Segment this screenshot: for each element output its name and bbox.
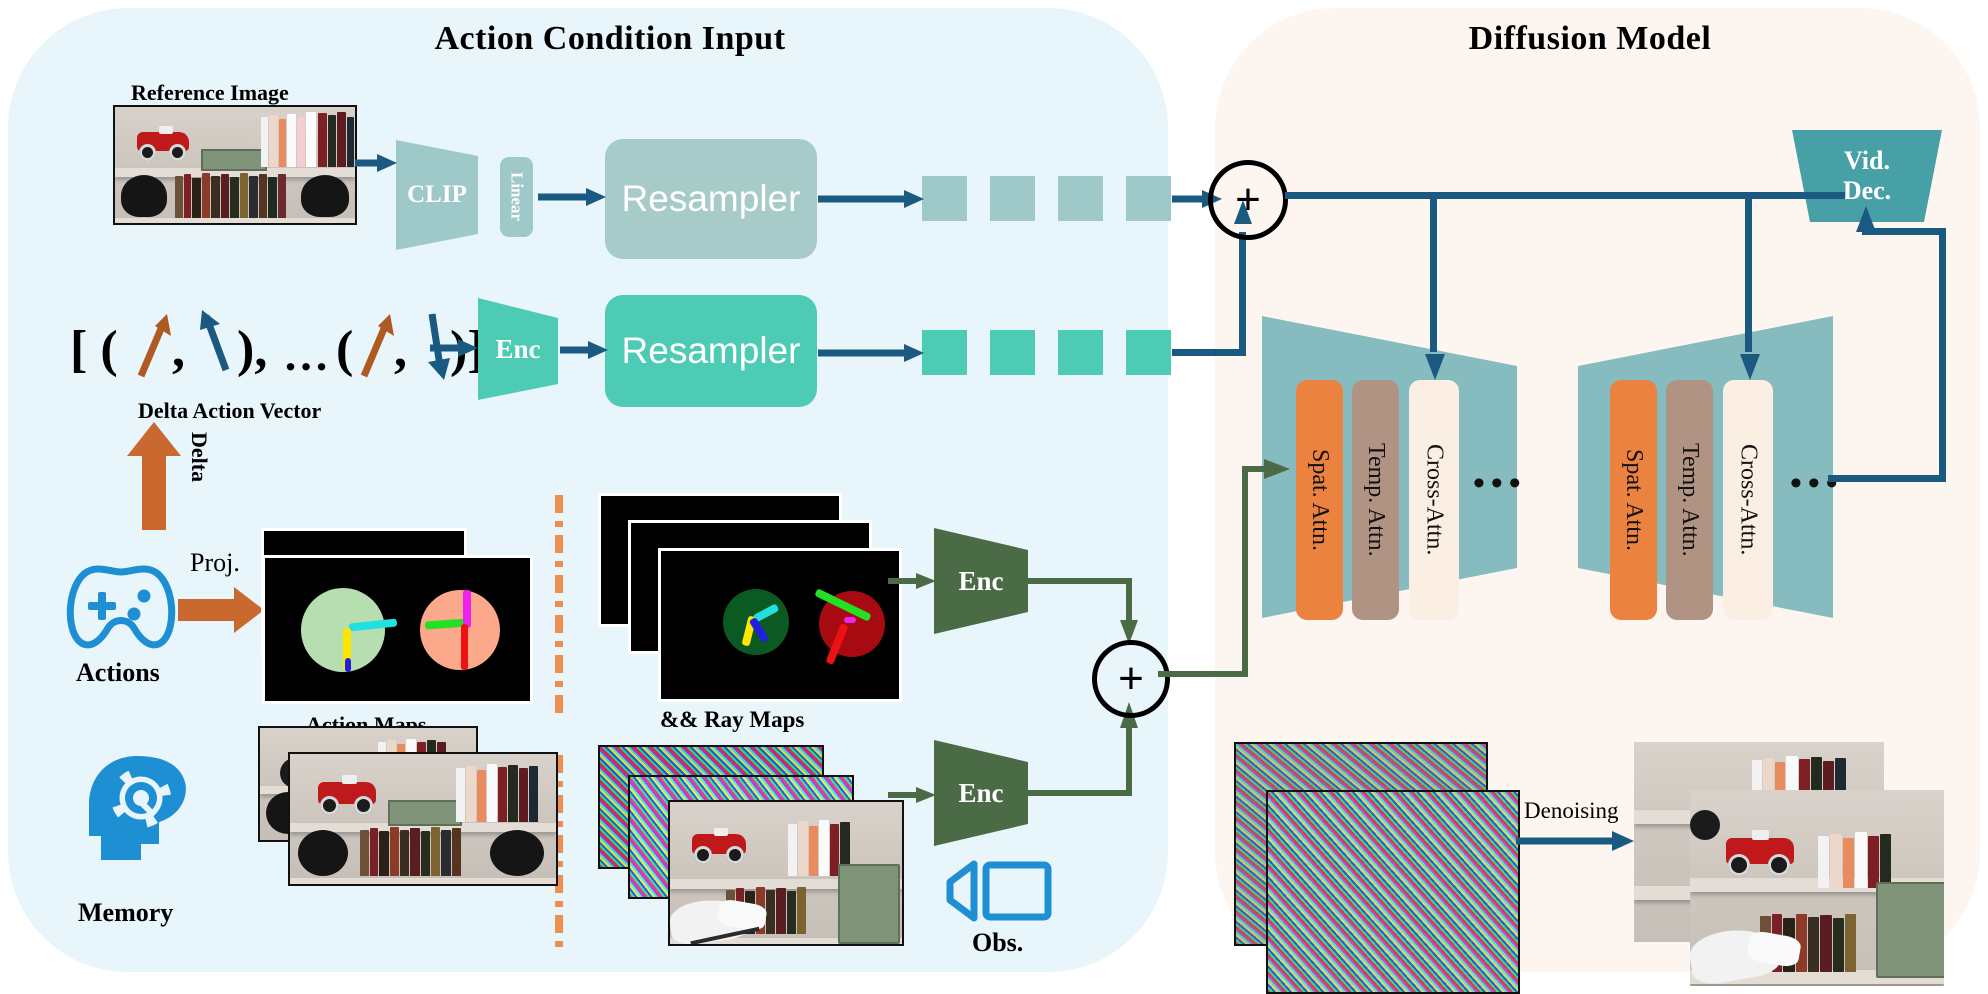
unet1-cross-attn-label: Cross-Attn. (1421, 444, 1448, 555)
denoising-label: Denoising (1524, 798, 1619, 824)
memory-brain-icon (85, 752, 193, 870)
line-unet2-up (1939, 230, 1946, 480)
token-bottom-4 (1126, 330, 1171, 375)
line-tokens-bottom-right (1172, 349, 1246, 356)
linear-block-label: Linear (507, 172, 527, 221)
unet2-temp-attn-label: Temp. Attn. (1676, 443, 1703, 557)
unet2-cross-attn-block: Cross-Attn. (1723, 380, 1773, 620)
arrowhead-cond-to-unet2 (1737, 340, 1763, 382)
line-encobs-right (1028, 790, 1132, 796)
diagram-canvas: Action Condition Input Reference Image (0, 0, 1988, 980)
line-latent-right (1158, 671, 1248, 677)
arrow-resampler-top-to-tokens (818, 186, 926, 212)
enc-obs-label: Enc (930, 740, 1032, 846)
camera-obs-icon (944, 860, 1054, 922)
vid-dec-label-line1: Vid. (1844, 146, 1890, 176)
plus-node-latent-symbol: + (1092, 640, 1170, 718)
delta-vector-ellipsis: … (283, 328, 329, 381)
denoise-output-front (1690, 790, 1944, 986)
token-top-4 (1126, 176, 1171, 221)
denoising-arrow-icon (1516, 828, 1636, 854)
arrow-resampler-bottom-to-tokens (818, 340, 926, 366)
line-encobs-up (1126, 726, 1132, 794)
arrow-obs-to-enc (888, 782, 938, 808)
token-bottom-1 (922, 330, 967, 375)
token-bottom-3 (1058, 330, 1103, 375)
actions-label: Actions (76, 658, 160, 688)
arrowhead-into-viddec (1853, 206, 1879, 236)
token-top-1 (922, 176, 967, 221)
unet-block-2-ellipsis: ••• (1790, 465, 1844, 503)
proj-label: Proj. (190, 548, 240, 578)
unet1-spat-attn-label: Spat. Attn. (1306, 449, 1333, 551)
arrow-refimage-to-clip (355, 150, 399, 176)
linear-block: Linear (500, 157, 533, 237)
line-latent-up (1242, 466, 1248, 676)
enc-raymaps-label: Enc (930, 528, 1032, 634)
reference-image-photo (113, 105, 357, 225)
delta-label: Delta (186, 432, 212, 482)
line-unet2-out (1828, 475, 1946, 482)
action-map-frame-front (262, 555, 533, 704)
memory-photo-front (288, 752, 558, 886)
panel-left-title: Action Condition Input (260, 20, 960, 58)
delta-vector-open-2: ( (336, 320, 353, 379)
obs-photo-front (668, 800, 904, 946)
token-bottom-2 (990, 330, 1035, 375)
resampler-bottom-block: Resampler (605, 295, 817, 407)
vid-dec-label-line2: Dec. (1843, 176, 1891, 206)
unet2-cross-attn-label: Cross-Attn. (1735, 444, 1762, 555)
arrow-raymaps-to-enc (888, 568, 938, 594)
ray-map-frame-front (658, 548, 902, 702)
unet1-cross-attn-block: Cross-Attn. (1409, 380, 1459, 620)
delta-vector-comma-2: , (394, 320, 407, 379)
delta-action-vector-label: Delta Action Vector (138, 398, 321, 424)
line-cond-to-unet2 (1745, 192, 1752, 352)
delta-vector-comma-1: , (172, 320, 185, 379)
delta-vector-close-1: ), (237, 320, 267, 379)
arrowhead-latent-to-unet1 (1258, 455, 1292, 483)
gamepad-icon (62, 558, 180, 654)
unet2-temp-attn-block: Temp. Attn. (1666, 380, 1713, 620)
unet1-temp-attn-label: Temp. Attn. (1362, 443, 1389, 557)
denoise-input-front (1266, 790, 1520, 994)
unet2-spat-attn-label: Spat. Attn. (1620, 449, 1647, 551)
enc-action-label: Enc (474, 298, 562, 400)
memory-label: Memory (78, 898, 173, 928)
line-condition-bus (1285, 192, 1845, 199)
plus-node-condition-symbol: + (1208, 160, 1288, 240)
unet1-temp-attn-block: Temp. Attn. (1352, 380, 1399, 620)
delta-orange-arrow-icon (125, 422, 183, 530)
delta-arrow-up-right-1-icon (135, 310, 175, 382)
line-encray-right (1028, 578, 1132, 584)
unet1-spat-attn-block: Spat. Attn. (1296, 380, 1343, 620)
reference-image-label: Reference Image (131, 80, 289, 106)
resampler-top-block: Resampler (605, 139, 817, 259)
token-top-2 (990, 176, 1035, 221)
delta-arrow-up-right-2-icon (358, 310, 398, 382)
proj-orange-arrow-icon (178, 585, 264, 635)
resampler-top-label: Resampler (622, 178, 801, 220)
arrow-enc-to-resampler-bottom (560, 337, 610, 363)
arrowhead-cond-to-unet1 (1422, 340, 1448, 382)
divider-orange-upper (555, 495, 563, 715)
vid-dec-block: Vid. Dec. (1792, 136, 1942, 216)
unet2-spat-attn-block: Spat. Attn. (1610, 380, 1657, 620)
delta-vector-bracket-open: [ ( (70, 320, 118, 379)
clip-block-label: CLIP (392, 140, 482, 250)
arrow-delta-to-enc (430, 335, 480, 361)
ray-maps-label: && Ray Maps (660, 707, 804, 733)
unet-block-1-ellipsis: ••• (1473, 465, 1527, 503)
line-cond-to-unet1 (1430, 192, 1437, 352)
resampler-bottom-label: Resampler (622, 330, 801, 372)
token-top-3 (1058, 176, 1103, 221)
arrow-linear-to-resampler-top (538, 184, 608, 210)
delta-arrow-down-right-1-icon (196, 308, 238, 386)
panel-right-title: Diffusion Model (1330, 20, 1850, 58)
obs-label: Obs. (972, 928, 1023, 958)
line-tokens-bottom-up (1239, 232, 1246, 356)
